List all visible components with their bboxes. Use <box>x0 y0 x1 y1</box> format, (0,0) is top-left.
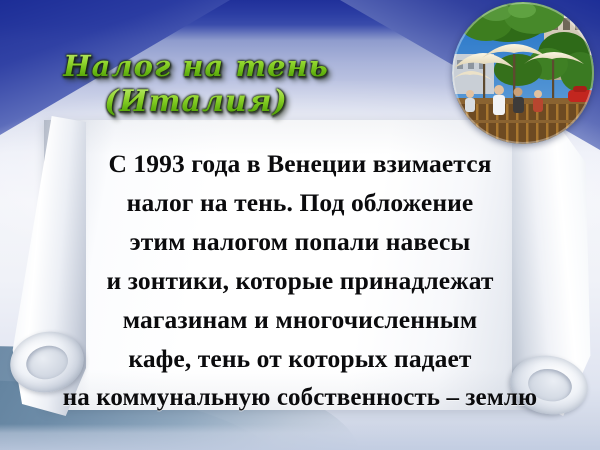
slide-title: Налог на тень (Италия) <box>36 52 356 123</box>
title-line-1: Налог на тень <box>36 52 356 81</box>
body-line-7: на коммунальную собственность – землю <box>0 378 600 417</box>
cafe-photo-illustration <box>452 2 594 144</box>
body-line-2: налог на тень. Под обложение <box>0 183 600 222</box>
bottom-band <box>0 424 600 450</box>
body-line-1: С 1993 года в Венеции взимается <box>0 144 600 183</box>
presentation-slide: Налог на тень (Италия) С 1993 года в Вен… <box>0 0 600 450</box>
title-line-2: (Италия) <box>36 87 356 117</box>
body-line-3: этим налогом попали навесы <box>0 222 600 261</box>
slide-body-text: С 1993 года в Венеции взимается налог на… <box>0 144 600 417</box>
cafe-photo <box>452 2 594 144</box>
body-line-5: магазинам и многочисленным <box>0 300 600 339</box>
body-line-4: и зонтики, которые принадлежат <box>0 261 600 300</box>
body-line-6: кафе, тень от которых падает <box>0 339 600 378</box>
